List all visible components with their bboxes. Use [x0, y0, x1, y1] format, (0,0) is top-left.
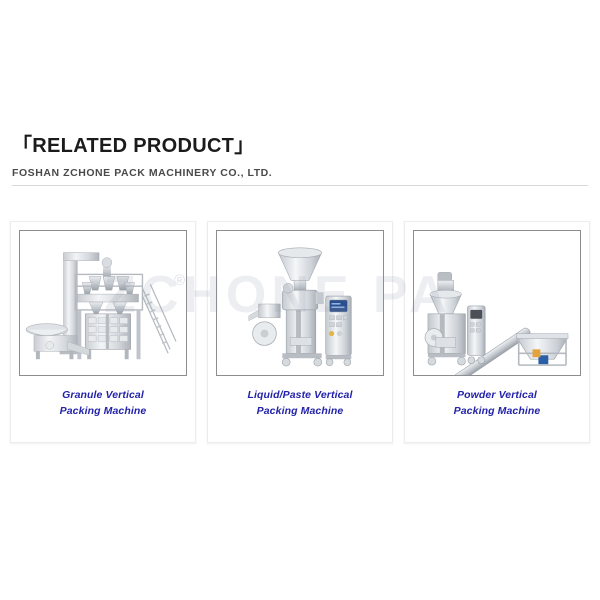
caption-line-1: Liquid/Paste Vertical — [248, 389, 353, 401]
caption-line-2: Packing Machine — [60, 403, 147, 419]
product-card-powder[interactable]: Powder Vertical Packing Machine — [404, 221, 590, 443]
product-card-list: Granule Vertical Packing Machine — [10, 221, 590, 443]
powder-machine-image[interactable] — [413, 230, 581, 376]
caption-line-1: Powder Vertical — [457, 389, 537, 401]
page-title: 「RELATED PRODUCT」 — [12, 134, 588, 158]
product-card-granule[interactable]: Granule Vertical Packing Machine — [10, 221, 196, 443]
product-caption: Powder Vertical Packing Machine — [454, 387, 541, 420]
caption-line-1: Granule Vertical — [62, 389, 144, 401]
caption-line-2: Packing Machine — [454, 403, 541, 419]
header-divider — [12, 185, 588, 186]
granule-machine-image[interactable] — [19, 230, 187, 376]
product-caption: Liquid/Paste Vertical Packing Machine — [248, 387, 353, 420]
product-caption: Granule Vertical Packing Machine — [60, 387, 147, 420]
related-product-section: 「RELATED PRODUCT」 FOSHAN ZCHONE PACK MAC… — [0, 0, 600, 600]
caption-line-2: Packing Machine — [248, 403, 353, 419]
section-header: 「RELATED PRODUCT」 FOSHAN ZCHONE PACK MAC… — [12, 134, 588, 186]
liquid-paste-machine-image[interactable] — [216, 230, 384, 376]
company-name: FOSHAN ZCHONE PACK MACHINERY CO., LTD. — [12, 167, 588, 179]
product-card-liquid-paste[interactable]: Liquid/Paste Vertical Packing Machine — [207, 221, 393, 443]
